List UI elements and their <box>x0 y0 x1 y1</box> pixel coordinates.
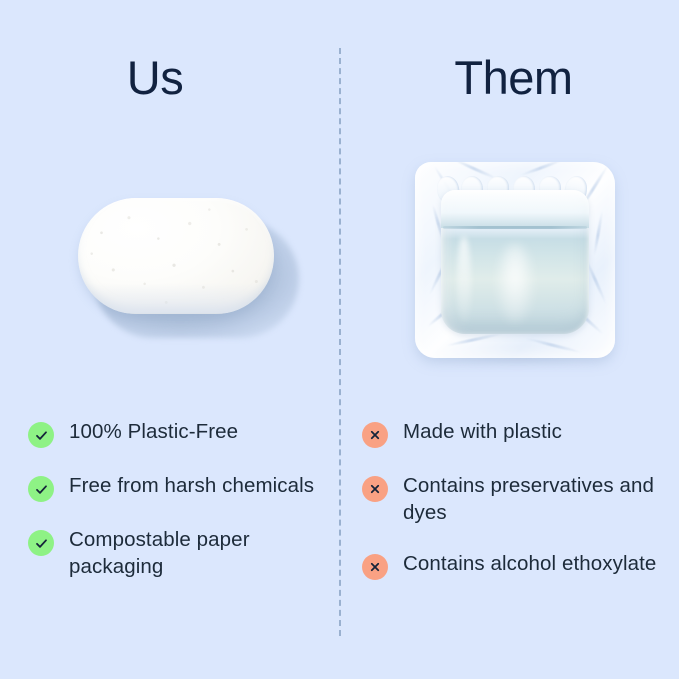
feature-label: Contains preservatives and dyes <box>403 472 665 526</box>
tablet-bottom-rim <box>80 283 270 313</box>
comparison-infographic: Us 100% Plastic-Free <box>0 0 679 679</box>
close-icon <box>362 422 388 448</box>
feature-label: Compostable paper packaging <box>69 526 331 580</box>
feature-list-them: Made with plastic Contains preservatives… <box>340 418 679 604</box>
check-icon <box>28 530 54 556</box>
close-icon <box>362 554 388 580</box>
comparison-column-them: Them <box>340 0 679 679</box>
check-icon <box>28 422 54 448</box>
list-item: Contains preservatives and dyes <box>362 472 679 526</box>
pod-plastic-film <box>415 162 615 358</box>
pod-liquid-surface-line <box>443 226 587 229</box>
feature-list-us: 100% Plastic-Free Free from harsh chemic… <box>0 418 339 604</box>
feature-label: Contains alcohol ethoxylate <box>403 550 656 577</box>
list-item: Compostable paper packaging <box>28 526 339 580</box>
pod-edge-highlight <box>457 236 471 328</box>
pod-highlight <box>497 244 533 322</box>
product-image-them <box>340 140 679 390</box>
column-heading-them: Them <box>340 50 679 106</box>
pod-air-headspace <box>441 190 589 228</box>
detergent-pod-illustration <box>415 162 621 372</box>
feature-label: Made with plastic <box>403 418 562 445</box>
list-item: Free from harsh chemicals <box>28 472 339 502</box>
list-item: 100% Plastic-Free <box>28 418 339 448</box>
comparison-column-us: Us 100% Plastic-Free <box>0 0 339 679</box>
product-image-us <box>0 140 339 390</box>
tablet-body <box>78 198 274 314</box>
check-icon <box>28 476 54 502</box>
laundry-tablet-illustration <box>78 198 278 320</box>
feature-label: Free from harsh chemicals <box>69 472 314 499</box>
list-item: Made with plastic <box>362 418 679 448</box>
close-icon <box>362 476 388 502</box>
pod-liquid-detergent <box>441 190 589 334</box>
column-heading-us: Us <box>0 50 339 106</box>
list-item: Contains alcohol ethoxylate <box>362 550 679 580</box>
feature-label: 100% Plastic-Free <box>69 418 238 445</box>
